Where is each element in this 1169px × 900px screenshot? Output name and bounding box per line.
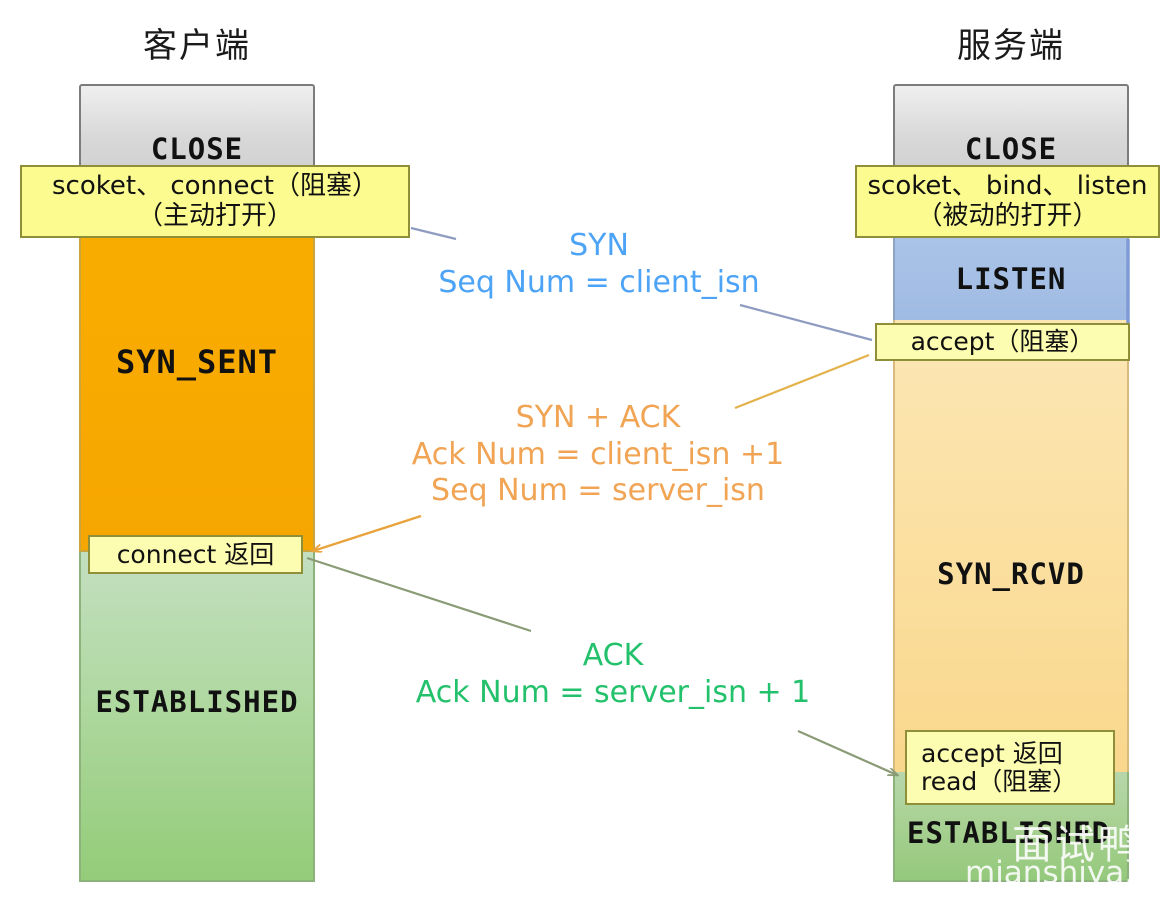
message-syn-line2: Seq Num = client_isn xyxy=(419,265,779,302)
server-callout-accept-return-read-line2: read（阻塞） xyxy=(921,768,1077,796)
syn-leader-right xyxy=(740,305,872,340)
message-syn: SYN Seq Num = client_isn xyxy=(419,228,779,301)
server-callout-accept-blocking-line1: accept（阻塞） xyxy=(911,328,1095,356)
client-column-title: 客户端 xyxy=(79,18,315,67)
syn-ack-leader-left xyxy=(313,516,421,551)
message-syn-ack: SYN + ACK Ack Num = client_isn +1 Seq Nu… xyxy=(398,400,798,510)
server-callout-accept-return-read-line1: accept 返回 xyxy=(921,740,1063,768)
message-syn-line1: SYN xyxy=(419,228,779,265)
ack-leader-right xyxy=(798,731,897,775)
diagram-canvas: 客户端 服务端 CLOSE SYN_SENT ESTABLISHED scoke… xyxy=(0,0,1169,900)
client-callout-connect-return-line1: connect 返回 xyxy=(117,541,275,569)
server-column-title: 服务端 xyxy=(893,18,1129,67)
server-callout-accept-return-read: accept 返回 read（阻塞） xyxy=(905,730,1115,805)
server-callout-socket-bind-listen: scoket、 bind、 listen （被动的打开） xyxy=(855,165,1160,238)
message-ack-line2: Ack Num = server_isn + 1 xyxy=(408,675,818,712)
client-state-established-label: ESTABLISHED xyxy=(95,685,298,719)
server-state-close-label: CLOSE xyxy=(965,132,1057,166)
watermark-url: mianshiya.com xyxy=(965,855,1169,891)
client-callout-socket-connect-line2: （主动打开） xyxy=(137,202,293,231)
server-state-listen-label: LISTEN xyxy=(956,262,1067,296)
message-syn-ack-line1: SYN + ACK xyxy=(398,400,798,437)
server-callout-socket-bind-listen-line2: （被动的打开） xyxy=(916,202,1098,231)
client-callout-socket-connect: scoket、 connect（阻塞） （主动打开） xyxy=(20,165,410,238)
message-ack: ACK Ack Num = server_isn + 1 xyxy=(408,638,818,711)
client-callout-connect-return: connect 返回 xyxy=(88,535,303,574)
server-state-syn-rcvd: SYN_RCVD xyxy=(893,320,1129,772)
client-state-syn-sent-label: SYN_SENT xyxy=(116,343,278,381)
client-state-close-label: CLOSE xyxy=(151,132,243,166)
message-syn-ack-line2: Ack Num = client_isn +1 xyxy=(398,437,798,474)
message-ack-line1: ACK xyxy=(408,638,818,675)
client-state-established: ESTABLISHED xyxy=(79,552,315,882)
ack-leader-left xyxy=(307,558,531,631)
server-callout-accept-blocking: accept（阻塞） xyxy=(875,323,1130,361)
client-callout-socket-connect-line1: scoket、 connect（阻塞） xyxy=(52,172,378,201)
server-state-syn-rcvd-label: SYN_RCVD xyxy=(937,557,1085,591)
server-callout-socket-bind-listen-line1: scoket、 bind、 listen xyxy=(868,172,1148,201)
message-syn-ack-line3: Seq Num = server_isn xyxy=(398,473,798,510)
